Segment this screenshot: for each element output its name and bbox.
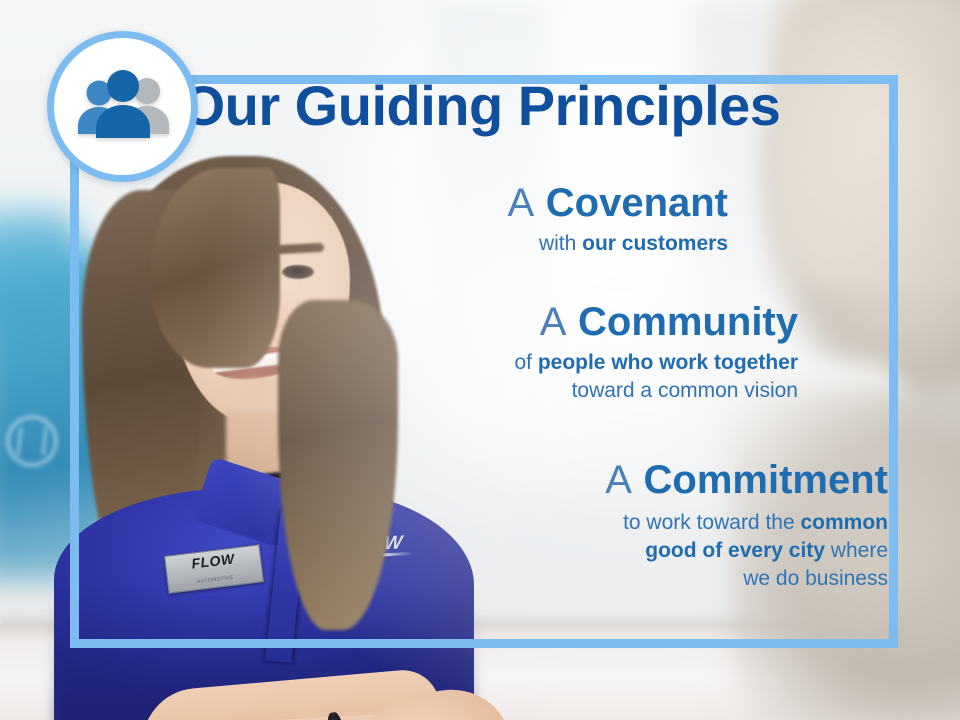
principle-item-commitment: A Commitment to work toward the common g… xyxy=(605,457,888,593)
principle-body-line: of people who work together xyxy=(514,349,798,377)
text-regular: with xyxy=(539,232,582,255)
principle-body-line: we do business xyxy=(605,565,888,593)
principle-body-line: to work toward the common xyxy=(605,509,888,537)
principle-heading: A Commitment xyxy=(605,457,888,503)
people-badge xyxy=(47,31,198,182)
principle-article: A xyxy=(540,300,567,344)
principle-item-community: A Community of people who work together … xyxy=(514,299,798,405)
principle-heading: A Community xyxy=(514,299,798,345)
principle-heading: A Covenant xyxy=(507,180,728,226)
text-regular: we do business xyxy=(743,567,888,590)
principle-keyword: Commitment xyxy=(644,458,888,502)
text-bold: common xyxy=(800,511,888,534)
text-bold: our customers xyxy=(582,232,728,255)
principle-body-line: good of every city where xyxy=(605,537,888,565)
principle-body-line: with our customers xyxy=(507,230,728,258)
text-regular: where xyxy=(825,539,888,562)
principle-article: A xyxy=(605,458,632,502)
principle-article: A xyxy=(507,181,534,225)
principle-body: with our customers xyxy=(507,230,728,258)
principle-item-covenant: A Covenant with our customers xyxy=(507,180,728,258)
text-regular: toward a common vision xyxy=(572,379,798,402)
principle-keyword: Covenant xyxy=(546,181,728,225)
people-group-icon xyxy=(71,68,175,146)
principle-body: of people who work together toward a com… xyxy=(514,349,798,405)
poster-content: Our Guiding Principles A Covenant with o… xyxy=(70,75,898,648)
text-bold: good of every city xyxy=(645,539,825,562)
text-bold: people who work together xyxy=(538,351,798,374)
text-regular: to work toward the xyxy=(623,511,800,534)
principle-keyword: Community xyxy=(578,300,798,344)
principle-body: to work toward the common good of every … xyxy=(605,509,888,593)
principle-body-line: toward a common vision xyxy=(514,377,798,405)
text-regular: of xyxy=(514,351,537,374)
poster-stage: FLOW FLOW AUTOMOTIVE Our Guiding Princip… xyxy=(0,0,960,720)
